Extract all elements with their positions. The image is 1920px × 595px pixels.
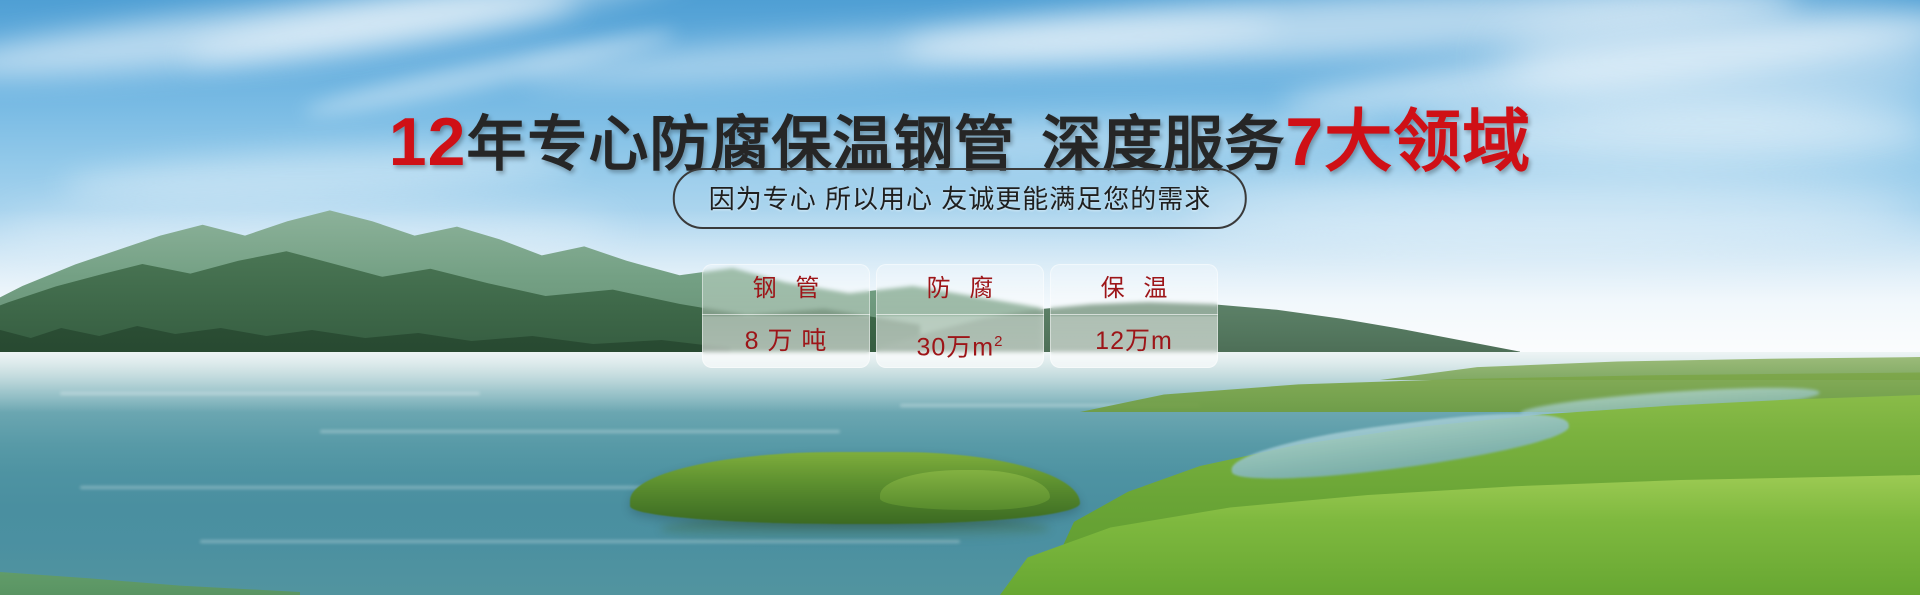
stat-card-insulation[interactable]: 保 温 12万m <box>1050 264 1218 368</box>
subtitle-pill: 因为专心 所以用心 友诚更能满足您的需求 <box>673 168 1247 229</box>
hero-banner: 12年专心防腐保温钢管深度服务7大领域 因为专心 所以用心 友诚更能满足您的需求… <box>0 0 1920 595</box>
stat-card-title: 保 温 <box>1050 264 1218 315</box>
headline-years-number: 12 <box>389 104 467 180</box>
stat-card-steel-pipe[interactable]: 钢 管 8 万 吨 <box>702 264 870 368</box>
stat-card-value: 12万m <box>1095 315 1173 368</box>
stat-card-value: 8 万 吨 <box>745 315 828 368</box>
stat-card-title: 钢 管 <box>702 264 870 315</box>
stat-card-title: 防 腐 <box>876 264 1044 315</box>
stat-card-group: 钢 管 8 万 吨 防 腐 30万m2 保 温 12万m <box>702 264 1218 368</box>
stat-card-anticorrosion[interactable]: 防 腐 30万m2 <box>876 264 1044 368</box>
stat-card-unit-exponent: 2 <box>994 333 1003 350</box>
headline-fields-number: 7 <box>1285 104 1324 180</box>
stat-card-value: 30万m2 <box>917 315 1004 368</box>
headline-fields-text: 大领域 <box>1324 104 1531 180</box>
